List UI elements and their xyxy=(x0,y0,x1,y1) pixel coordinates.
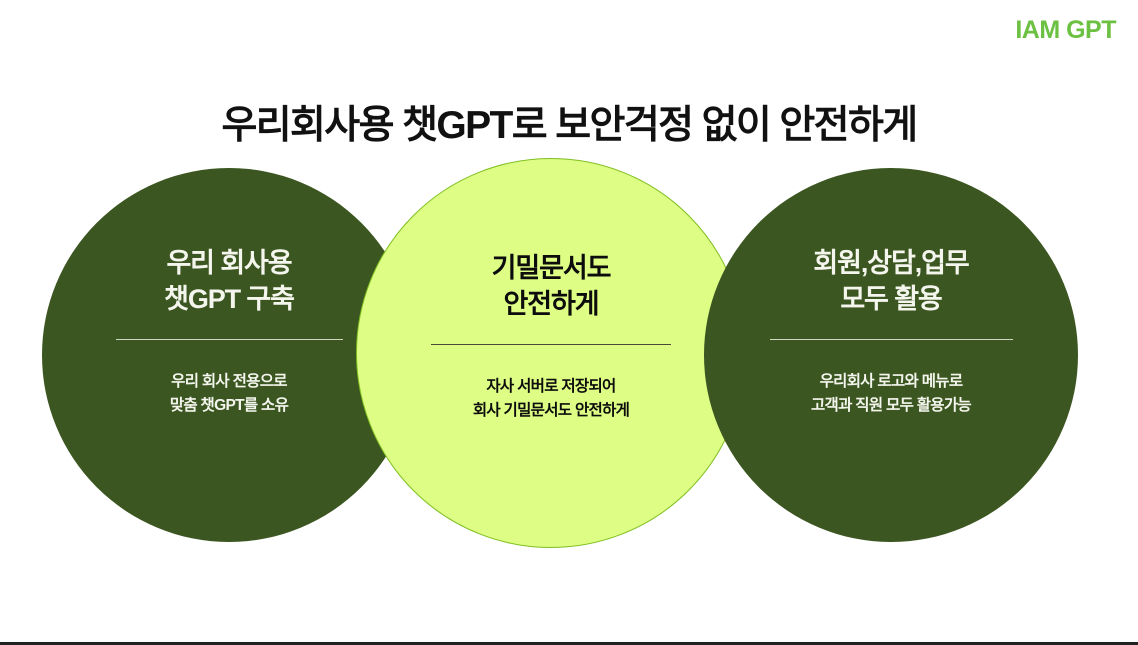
venn-circle-middle-heading: 기밀문서도 안전하게 xyxy=(492,251,611,322)
venn-diagram: 우리 회사용 챗GPT 구축 우리 회사 전용으로 맞춤 챗GPT를 소유 기밀… xyxy=(0,0,1138,645)
venn-circle-right-content: 회원,상담,업무 모두 활용 우리회사 로고와 메뉴로 고객과 직원 모두 활용… xyxy=(704,168,1078,417)
venn-circle-right-heading: 회원,상담,업무 모두 활용 xyxy=(813,246,968,317)
venn-circle-left-heading: 우리 회사용 챗GPT 구축 xyxy=(164,246,294,317)
venn-circle-middle-description: 자사 서버로 저장되어 회사 기밀문서도 안전하게 xyxy=(473,375,629,422)
slide-canvas: IAM GPT 우리회사용 챗GPT로 보안걱정 없이 안전하게 우리 회사용 … xyxy=(0,0,1138,645)
venn-circle-left-description: 우리 회사 전용으로 맞춤 챗GPT를 소유 xyxy=(170,370,288,417)
venn-circle-middle-divider xyxy=(431,344,671,345)
venn-circle-right-divider xyxy=(770,339,1013,340)
venn-circle-middle: 기밀문서도 안전하게 자사 서버로 저장되어 회사 기밀문서도 안전하게 xyxy=(356,158,746,548)
venn-circle-right-description: 우리회사 로고와 메뉴로 고객과 직원 모두 활용가능 xyxy=(811,370,971,417)
venn-circle-right: 회원,상담,업무 모두 활용 우리회사 로고와 메뉴로 고객과 직원 모두 활용… xyxy=(704,168,1078,542)
venn-circle-middle-content: 기밀문서도 안전하게 자사 서버로 저장되어 회사 기밀문서도 안전하게 xyxy=(357,159,745,422)
venn-circle-left-divider xyxy=(116,339,343,340)
